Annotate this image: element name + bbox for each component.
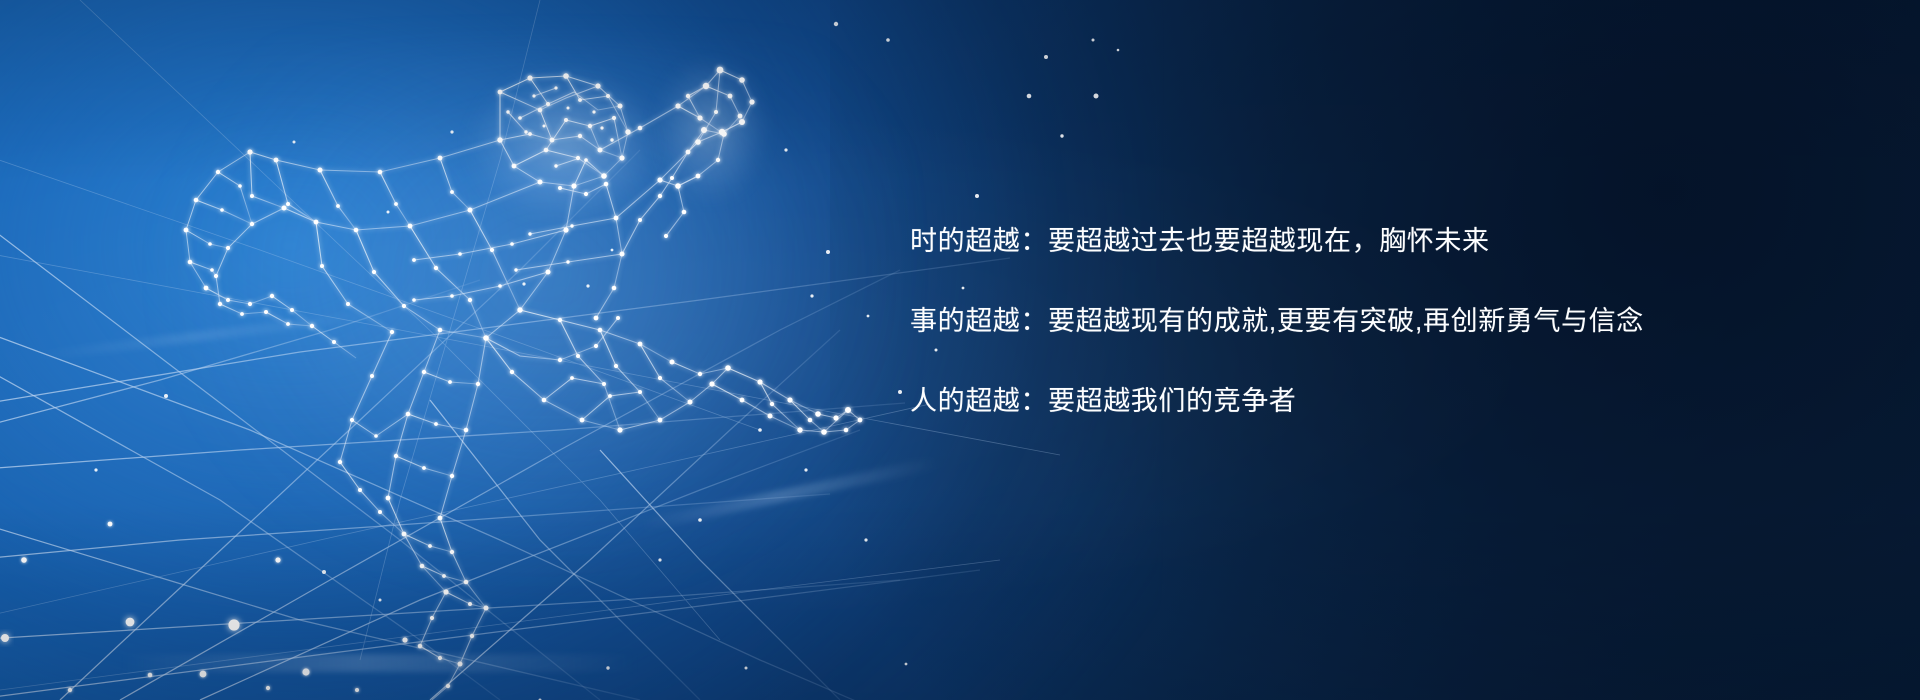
vignette-overlay xyxy=(0,0,1920,700)
hero-banner: 时的超越：要超越过去也要超越现在，胸怀未来 事的超越：要超越现有的成就,更要有突… xyxy=(0,0,1920,700)
